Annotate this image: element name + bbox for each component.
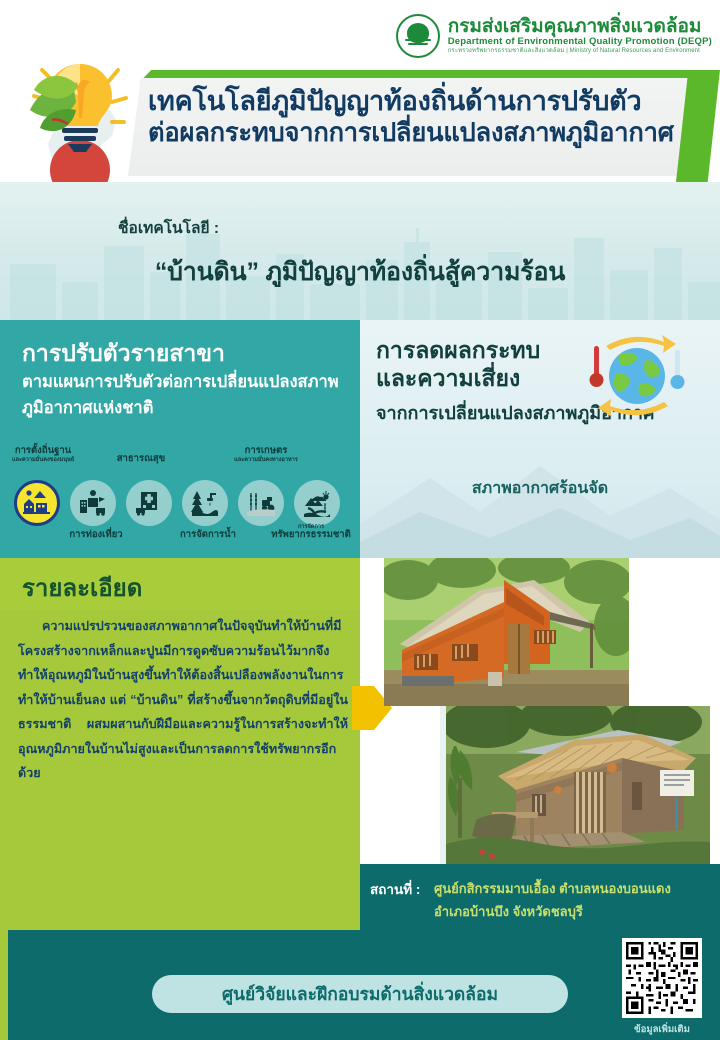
sector-item-settlement[interactable] — [14, 480, 60, 526]
mitigation-heading-line2: และความเสี่ยง — [376, 364, 576, 392]
sector-label-health: สาธารณสุข — [98, 454, 184, 465]
sector-icon-group: การตั้งถิ่นฐาน และความมั่นคงของมนุษย์ กา… — [0, 448, 360, 558]
mitigation-heading: การลดผลกระทบ และความเสี่ยง — [376, 336, 576, 392]
location-label: สถานที่ : — [370, 878, 420, 900]
tourism-icon — [78, 488, 108, 518]
footer-accent-strip — [0, 930, 8, 1040]
photo-thatched-mud-house — [440, 706, 710, 864]
sector-label-tourism: การท่องเที่ยว — [50, 530, 142, 541]
sector-label-natural-resources: การจัดการ ทรัพยากรธรรมชาติ — [262, 524, 360, 541]
qr-code-caption: ข้อมูลเพิ่มเติม — [612, 1022, 712, 1037]
poster-title: เทคโนโลยีภูมิปัญญาท้องถิ่นด้านการปรับตัว… — [148, 86, 693, 148]
poster-root: กรมส่งเสริมคุณภาพสิ่งแวดล้อม Department … — [0, 0, 720, 1040]
footer-organization-label: ศูนย์วิจัยและฝึกอบรมด้านสิ่งแวดล้อม — [222, 980, 498, 1008]
ministry-line: กระทรวงทรัพยากรธรรมชาติและสิ่งแวดล้อม | … — [448, 48, 712, 54]
sector-label-water: การจัดการน้ำ — [162, 530, 254, 541]
sector-label-agriculture: การเกษตร และความมั่นคงทางอาหาร — [218, 446, 314, 463]
technology-label: ชื่อเทคโนโลยี : — [118, 215, 219, 240]
details-body-text: ความแปรปรวนของสภาพอากาศในปัจจุบันทำให้บ้… — [18, 614, 348, 786]
deqp-emblem-icon — [396, 14, 440, 58]
health-icon — [134, 488, 164, 518]
footer-organization-pill[interactable]: ศูนย์วิจัยและฝึกอบรมด้านสิ่งแวดล้อม — [152, 975, 568, 1013]
qr-code[interactable] — [622, 938, 702, 1018]
location-value: ศูนย์กสิกรรมมาบเอื้อง ตำบลหนองบอนแดง อำเ… — [434, 878, 694, 924]
sector-item-water[interactable] — [182, 480, 228, 526]
qr-code-icon — [626, 942, 698, 1014]
details-title: รายละเอียด — [22, 568, 142, 607]
sector-item-natural-resources[interactable] — [294, 480, 340, 526]
sector-item-tourism[interactable] — [70, 480, 116, 526]
agriculture-icon — [246, 488, 276, 518]
deqp-logo: กรมส่งเสริมคุณภาพสิ่งแวดล้อม Department … — [396, 14, 712, 58]
technology-band — [0, 182, 720, 320]
technology-name: “บ้านดิน” ภูมิปัญญาท้องถิ่นสู้ความร้อน — [0, 252, 720, 292]
settlement-icon — [22, 488, 52, 518]
natural-resources-icon — [302, 488, 332, 518]
org-name-english: Department of Environmental Quality Prom… — [448, 37, 712, 47]
weather-condition-label: สภาพอากาศร้อนจัด — [360, 476, 720, 501]
org-name-thai: กรมส่งเสริมคุณภาพสิ่งแวดล้อม — [448, 17, 712, 37]
mitigation-heading-line1: การลดผลกระทบ — [376, 336, 576, 364]
sector-item-health[interactable] — [126, 480, 172, 526]
sector-label-settlement: การตั้งถิ่นฐาน และความมั่นคงของมนุษย์ — [0, 446, 86, 463]
sector-item-agriculture[interactable] — [238, 480, 284, 526]
adaptation-subheading: ตามแผนการปรับตัวต่อการเปลี่ยนแปลงสภาพภูม… — [22, 370, 352, 421]
globe-thermometer-icon — [572, 330, 700, 422]
water-management-icon — [190, 488, 220, 518]
poster-title-line1: เทคโนโลยีภูมิปัญญาท้องถิ่นด้านการปรับตัว — [148, 86, 693, 118]
poster-title-line2: ต่อผลกระทบจากการเปลี่ยนแปลงสภาพภูมิอากาศ — [148, 118, 693, 148]
photo-earthen-house-orange — [384, 558, 629, 706]
adaptation-heading: การปรับตัวรายสาขา — [22, 336, 225, 372]
